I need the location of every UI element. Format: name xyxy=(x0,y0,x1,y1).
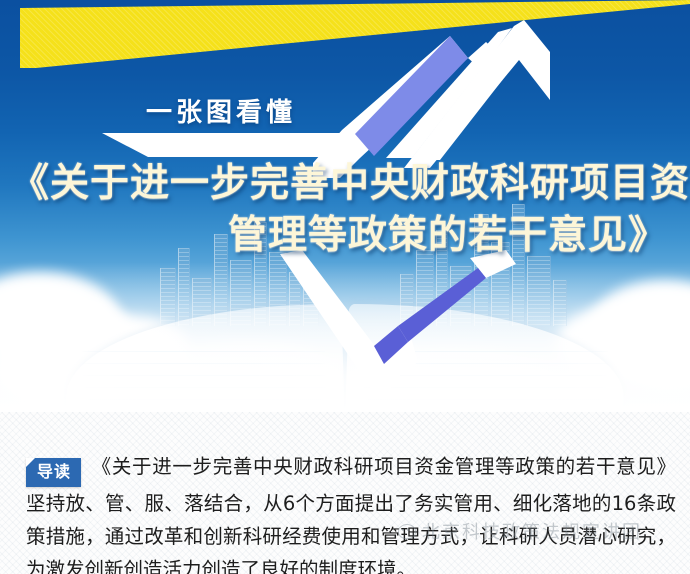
hero-banner: 一张图看懂 《关于进一步完善中央财政科研项目资金 管理等政策的若干意见》 xyxy=(0,0,690,412)
kicker-underline-ribbon xyxy=(102,133,350,157)
hero-title: 《关于进一步完善中央财政科研项目资金 管理等政策的若干意见》 xyxy=(0,158,690,262)
downward-check-arrow xyxy=(280,250,530,400)
intro-badge: 导读 xyxy=(26,458,81,487)
intro-body-text: 《关于进一步完善中央财政科研项目资金管理等政策的若干意见》坚持放、管、服、落结合… xyxy=(26,455,676,574)
intro-section: 导读《关于进一步完善中央财政科研项目资金管理等政策的若干意见》坚持放、管、服、落… xyxy=(0,412,690,574)
intro-paragraph: 导读《关于进一步完善中央财政科研项目资金管理等政策的若干意见》坚持放、管、服、落… xyxy=(26,450,676,574)
hero-title-line1: 《关于进一步完善中央财政科研项目资金 xyxy=(0,158,668,210)
hero-title-line2: 管理等政策的若干意见》 xyxy=(0,210,668,262)
infographic-poster: 一张图看懂 《关于进一步完善中央财政科研项目资金 管理等政策的若干意见》 导读《… xyxy=(0,0,690,574)
hero-kicker: 一张图看懂 xyxy=(146,92,296,129)
intro-inner: 导读《关于进一步完善中央财政科研项目资金管理等政策的若干意见》坚持放、管、服、落… xyxy=(0,412,690,574)
